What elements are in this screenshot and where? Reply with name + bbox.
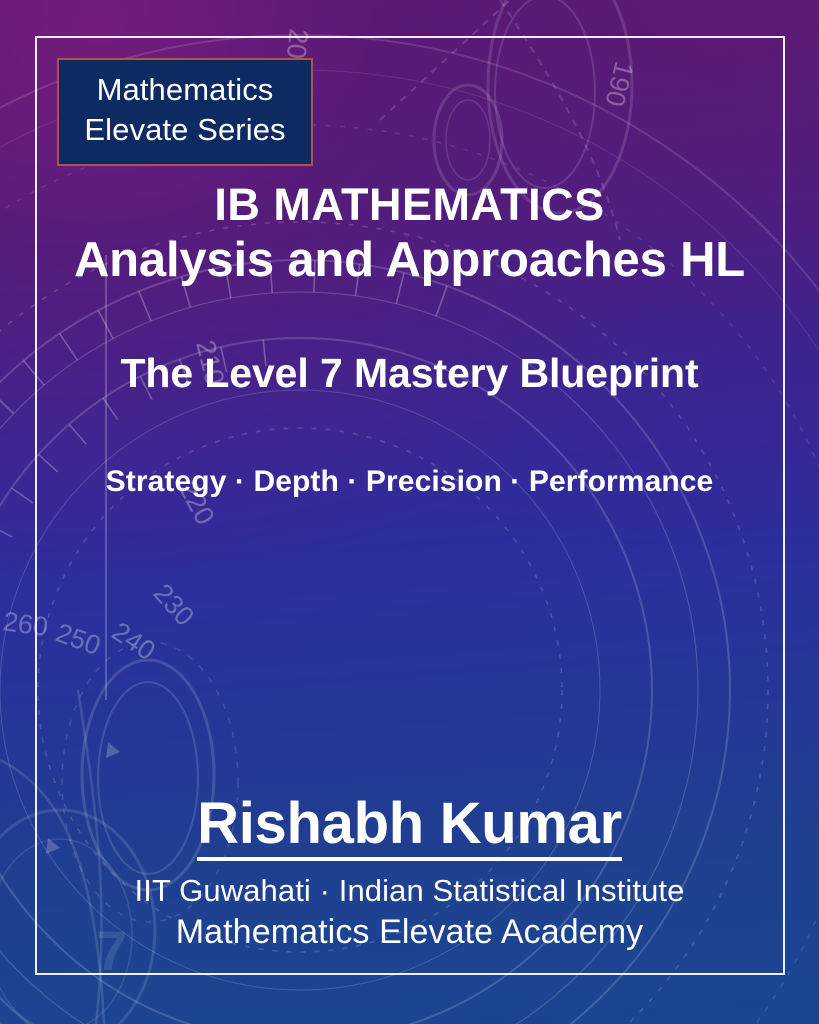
svg-text:260: 260 [1,606,50,642]
slide-tagline: Strategy · Depth · Precision · Performan… [0,465,819,499]
presentation-title-slide: 210 220 230 240 250 260 190 200 [0,0,819,1024]
presenter-block: Rishabh Kumar IIT Guwahati · Indian Stat… [0,793,819,952]
course-title-line-2: Analysis and Approaches HL [0,232,819,290]
presenter-credentials: IIT Guwahati · Indian Statistical Instit… [0,873,819,910]
series-badge-line-2: Elevate Series [84,110,285,150]
headline-block: IB MATHEMATICS Analysis and Approaches H… [0,182,819,499]
presenter-name: Rishabh Kumar [197,793,622,862]
presenter-name-wrap: Rishabh Kumar [0,793,819,862]
presenter-organization: Mathematics Elevate Academy [0,912,819,952]
svg-text:230: 230 [148,578,200,632]
svg-text:250: 250 [52,617,105,661]
slide-subtitle: The Level 7 Mastery Blueprint [0,350,819,397]
series-badge-line-1: Mathematics [97,70,274,110]
svg-text:240: 240 [107,616,161,666]
series-badge: Mathematics Elevate Series [57,58,313,166]
course-title-line-1: IB MATHEMATICS [0,182,819,228]
svg-text:190: 190 [599,59,639,110]
